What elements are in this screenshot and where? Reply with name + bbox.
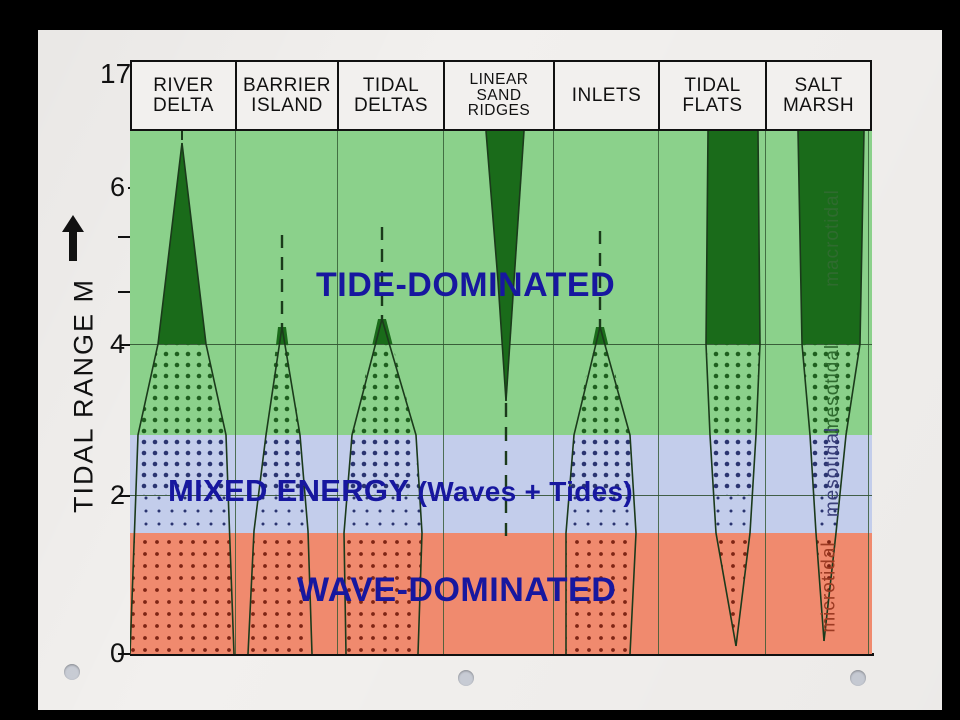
regime-label-mixed-energy: MIXED ENERGY (Waves + Tides): [168, 473, 633, 509]
column-divider: [658, 131, 659, 654]
figure-number: 17: [100, 58, 131, 90]
column-header-barrier-island: BARRIERISLAND: [237, 62, 339, 129]
binder-hole: [458, 670, 474, 686]
header-line: SALT: [794, 75, 842, 96]
column-header-river-delta: RIVERDELTA: [132, 62, 237, 129]
slide-root: 17 TIDAL RANGE M 6 4 2 0 RIVERDELTA BARR…: [0, 0, 960, 720]
column-divider: [868, 131, 869, 654]
side-label-mesotidal-blue: mesotidal: [822, 427, 844, 517]
column-header-table: RIVERDELTA BARRIERISLAND TIDALDELTAS LIN…: [130, 60, 872, 131]
y-tick-label-6: 6: [85, 172, 125, 203]
regime-label-mixed-energy-main: MIXED ENERGY: [168, 473, 418, 508]
header-line: ISLAND: [251, 95, 323, 116]
regime-label-wave-dominated: WAVE-DOMINATED: [297, 571, 616, 610]
header-line: LINEAR: [470, 71, 529, 88]
y-tick-label-4: 4: [85, 329, 125, 360]
header-line: TIDAL: [363, 75, 419, 96]
header-line: RIDGES: [468, 102, 530, 119]
header-line: INLETS: [572, 85, 642, 106]
header-line: BARRIER: [243, 75, 331, 96]
header-line: DELTA: [153, 95, 214, 116]
y-axis-title-text: TIDAL RANGE M: [69, 206, 100, 586]
header-line: RIVER: [153, 75, 214, 96]
column-header-inlets: INLETS: [555, 62, 660, 129]
header-line: MARSH: [783, 95, 854, 116]
column-header-tidal-flats: TIDALFLATS: [660, 62, 767, 129]
regime-label-mixed-energy-paren: (Waves + Tides): [418, 476, 633, 507]
header-line: TIDAL: [684, 75, 740, 96]
header-line: SAND: [476, 87, 521, 104]
side-label-macrotidal: macrotidal: [822, 189, 844, 287]
binder-hole: [64, 664, 80, 680]
up-arrow-icon: [60, 215, 86, 261]
header-line: FLATS: [682, 95, 742, 116]
regime-label-tide-dominated: TIDE-DOMINATED: [316, 266, 615, 305]
binder-hole: [850, 670, 866, 686]
column-header-tidal-deltas: TIDALDELTAS: [339, 62, 445, 129]
header-line: DELTAS: [354, 95, 428, 116]
column-header-linear-sand-ridges: LINEARSANDRIDGES: [445, 62, 555, 129]
column-divider: [235, 131, 236, 654]
side-label-mesotidal-green: mesotidal: [822, 344, 844, 434]
column-divider: [765, 131, 766, 654]
column-header-salt-marsh: SALTMARSH: [767, 62, 870, 129]
side-label-microtidal: microtidal: [819, 541, 841, 632]
